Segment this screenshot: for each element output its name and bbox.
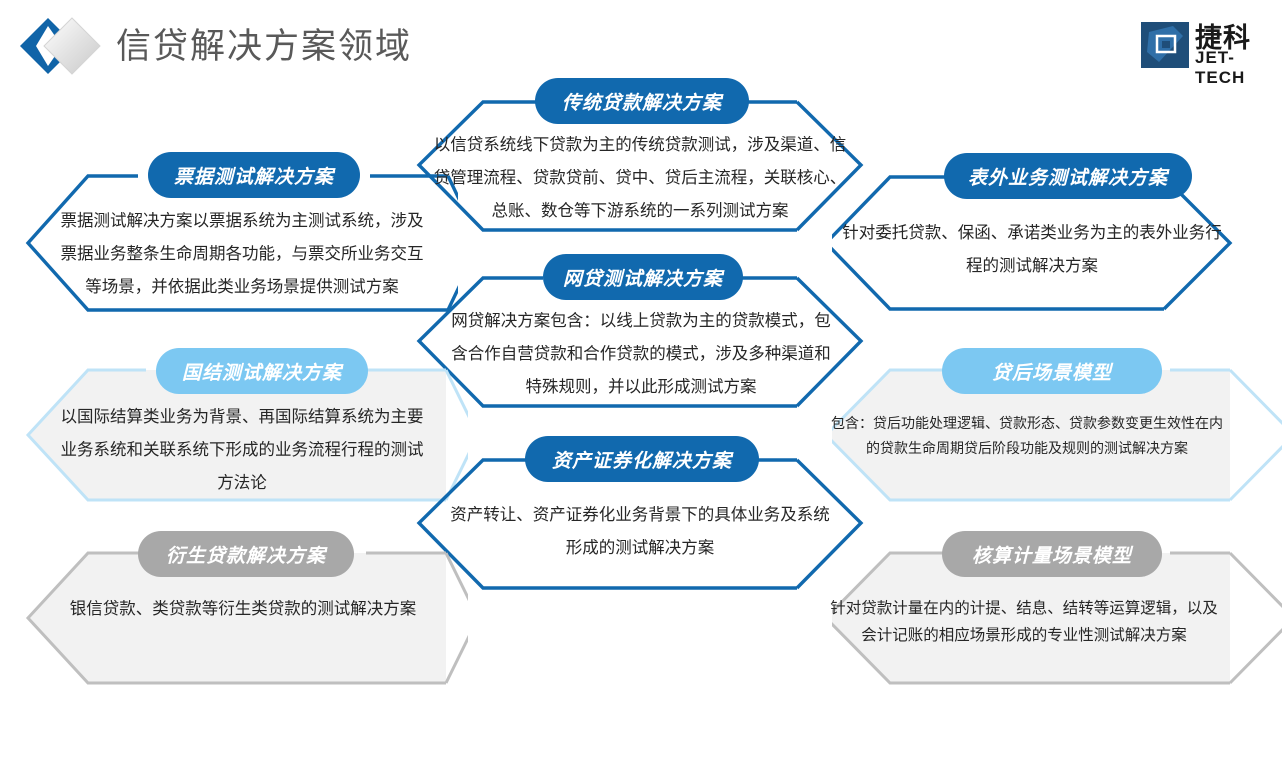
card-off-balance-sheet[interactable]: 表外业务测试解决方案 针对委托贷款、保函、承诺类业务为主的表外业务行程的测试解决… [832, 168, 1272, 318]
card-traditional-loan[interactable]: 传统贷款解决方案 以信贷系统线下贷款为主的传统贷款测试，涉及渠道、信贷管理流程、… [415, 90, 865, 240]
card-title-pill[interactable]: 衍生贷款解决方案 [138, 531, 354, 577]
brand-name-en: JET-TECH [1195, 48, 1279, 88]
card-title-text: 表外业务测试解决方案 [968, 163, 1168, 190]
card-body-text: 银信贷款、类贷款等衍生类贷款的测试解决方案 [63, 593, 423, 624]
slide-canvas: 信贷解决方案领域 捷科 JET-TECH 票据测试解决方案 票据测试解决方案以票… [0, 0, 1287, 761]
card-title-pill[interactable]: 票据测试解决方案 [148, 152, 360, 198]
jet-tech-square-logo-icon [1139, 16, 1191, 74]
card-asset-securitization[interactable]: 资产证券化解决方案 资产转让、资产证券化业务背景下的具体业务及系统形成的测试解决… [415, 448, 865, 598]
card-title-pill[interactable]: 国结测试解决方案 [156, 348, 368, 394]
brand-logo: 捷科 JET-TECH [1139, 14, 1279, 76]
card-body-text: 网贷解决方案包含：以线上贷款为主的贷款模式，包含合作自营贷款和合作贷款的模式，涉… [447, 304, 835, 403]
card-derivative-loan[interactable]: 衍生贷款解决方案 银信贷款、类贷款等衍生类贷款的测试解决方案 [18, 543, 458, 693]
card-title-text: 传统贷款解决方案 [562, 88, 722, 115]
double-diamond-logo-icon [14, 14, 118, 78]
card-body-text: 以国际结算类业务为背景、再国际结算系统为主要业务系统和关联系统下形成的业务流程行… [58, 400, 426, 499]
card-accounting-measure[interactable]: 核算计量场景模型 针对贷款计量在内的计提、结息、结转等运算逻辑，以及会计记账的相… [832, 543, 1272, 693]
card-title-text: 票据测试解决方案 [174, 162, 334, 189]
page-title: 信贷解决方案领域 [116, 18, 412, 69]
card-title-text: 衍生贷款解决方案 [166, 541, 326, 568]
card-intl-settlement[interactable]: 国结测试解决方案 以国际结算类业务为背景、再国际结算系统为主要业务系统和关联系统… [18, 360, 458, 510]
card-title-text: 贷后场景模型 [992, 358, 1112, 385]
card-body-text: 针对贷款计量在内的计提、结息、结转等运算逻辑，以及会计记账的相应场景形成的专业性… [824, 595, 1224, 649]
card-title-pill[interactable]: 贷后场景模型 [942, 348, 1162, 394]
card-title-text: 资产证券化解决方案 [552, 446, 732, 473]
card-title-pill[interactable]: 网贷测试解决方案 [543, 254, 743, 300]
card-body-text: 包含：贷后功能处理逻辑、贷款形态、贷款参数变更生效性在内的贷款生命周期贷后阶段功… [827, 412, 1227, 462]
card-body-text: 资产转让、资产证券化业务背景下的具体业务及系统形成的测试解决方案 [445, 498, 835, 564]
card-title-pill[interactable]: 传统贷款解决方案 [535, 78, 749, 124]
card-post-loan-scenario[interactable]: 贷后场景模型 包含：贷后功能处理逻辑、贷款形态、贷款参数变更生效性在内的贷款生命… [832, 360, 1272, 510]
card-online-loan[interactable]: 网贷测试解决方案 网贷解决方案包含：以线上贷款为主的贷款模式，包含合作自营贷款和… [415, 266, 865, 416]
card-bill-testing[interactable]: 票据测试解决方案 票据测试解决方案以票据系统为主测试系统，涉及票据业务整条生命周… [18, 168, 458, 318]
card-title-text: 国结测试解决方案 [182, 358, 342, 385]
card-title-pill[interactable]: 资产证券化解决方案 [525, 436, 759, 482]
card-body-text: 以信贷系统线下贷款为主的传统贷款测试，涉及渠道、信贷管理流程、贷款贷前、贷中、贷… [433, 128, 847, 227]
card-body-text: 票据测试解决方案以票据系统为主测试系统，涉及票据业务整条生命周期各功能，与票交所… [58, 204, 426, 303]
card-title-text: 核算计量场景模型 [972, 541, 1132, 568]
card-title-pill[interactable]: 表外业务测试解决方案 [944, 153, 1192, 199]
card-body-text: 针对委托贷款、保函、承诺类业务为主的表外业务行程的测试解决方案 [842, 216, 1222, 282]
card-title-text: 网贷测试解决方案 [563, 264, 723, 291]
card-title-pill[interactable]: 核算计量场景模型 [942, 531, 1162, 577]
